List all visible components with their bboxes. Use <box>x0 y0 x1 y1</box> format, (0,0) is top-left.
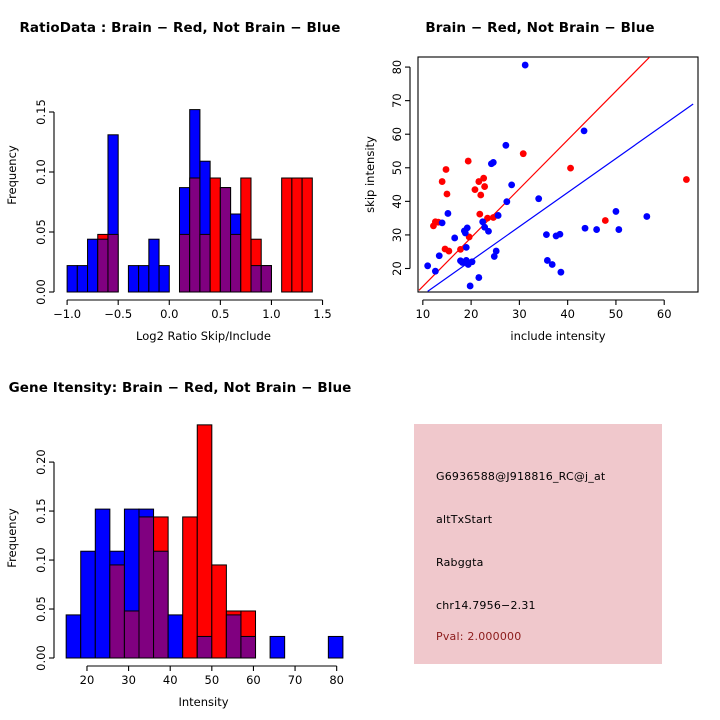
gene-hist-bin <box>139 509 154 658</box>
scatter-point <box>469 258 476 265</box>
gene-bar-blue <box>328 636 343 658</box>
gene-hist-bin <box>328 636 343 658</box>
info-line-probe-id: G6936588@J918816_RC@j_at <box>436 470 605 483</box>
scatter-xlabel: include intensity <box>510 329 605 343</box>
gene-y-ticklabel: 0.15 <box>34 498 48 524</box>
gene-bar-blue <box>66 615 81 658</box>
scatter-point <box>535 195 542 202</box>
ratio-hist-bin <box>108 135 118 292</box>
ratio-y-ticklabel: 0.15 <box>34 99 48 125</box>
scatter-point <box>443 166 450 173</box>
ratio-x-ticklabel: 1.0 <box>262 307 280 321</box>
gene-hist-bin <box>95 509 110 658</box>
probe-info-panel: G6936588@J918816_RC@j_at altTxStart Rabg… <box>414 424 662 664</box>
gene-hist-bin <box>241 611 256 658</box>
gene-y-ticklabel: 0.00 <box>34 645 48 671</box>
gene-hist-bin <box>66 615 81 658</box>
ratio-bar-overlap-purple <box>261 266 271 292</box>
gene-hist-bin <box>168 615 183 658</box>
gene-y-ticklabel: 0.20 <box>34 449 48 475</box>
gene-x-ticklabel: 70 <box>288 673 303 687</box>
scatter-y-ticklabel: 70 <box>390 93 404 108</box>
ratio-x-ticklabel: 1.5 <box>313 307 331 321</box>
scatter-point <box>508 182 515 189</box>
gene-hist-bin <box>81 551 96 658</box>
ratio-bar-blue <box>77 266 87 292</box>
scatter-point <box>522 62 529 69</box>
scatter-point <box>436 252 443 259</box>
gene-ylabel: Frequency <box>5 508 19 568</box>
ratio-hist-bin <box>179 188 189 292</box>
ratio-ylabel: Frequency <box>5 145 19 205</box>
gene-hist-bin <box>154 517 169 658</box>
info-line-event-type: altTxStart <box>436 513 492 526</box>
ratio-bar-overlap-purple <box>108 234 118 292</box>
gene-bar-overlap-purple <box>124 611 139 658</box>
scatter-point <box>424 262 431 269</box>
ratio-hist-bin <box>67 266 77 292</box>
ratio-hist-bin <box>88 239 98 292</box>
ratio-x-ticklabel: −0.5 <box>104 307 132 321</box>
scatter-point <box>472 186 479 193</box>
scatter-x-ticklabel: 60 <box>657 307 672 321</box>
gene-x-ticklabel: 30 <box>121 673 136 687</box>
scatter-y-ticklabel: 80 <box>390 60 404 75</box>
scatter-y-ticklabel: 60 <box>390 127 404 142</box>
gene-x-ticklabel: 50 <box>205 673 220 687</box>
ratio-bar-overlap-purple <box>200 234 210 292</box>
scatter-x-ticklabel: 50 <box>609 307 624 321</box>
scatter-x-ticklabel: 20 <box>464 307 479 321</box>
scatter-point <box>439 178 446 185</box>
scatter-y-ticklabel: 50 <box>390 160 404 175</box>
gene-hist-bin <box>270 636 285 658</box>
ratio-bar-red <box>241 178 251 292</box>
panel-ratiodata-title: RatioData : Brain − Red, Not Brain − Blu… <box>0 20 360 36</box>
scatter-point <box>613 208 620 215</box>
ratio-y-ticklabel: 0.10 <box>34 159 48 185</box>
gene-hist-bin <box>197 425 212 658</box>
scatter-point <box>457 246 464 253</box>
scatter-point <box>593 226 600 233</box>
ratio-bar-blue <box>88 239 98 292</box>
gene-hist-bin <box>212 565 227 658</box>
gene-x-ticklabel: 20 <box>80 673 95 687</box>
scatter-point <box>615 226 622 233</box>
scatter-point <box>480 175 487 182</box>
scatter-red-reference-line <box>419 57 650 290</box>
ratio-hist-bin <box>241 178 251 292</box>
ratio-bar-blue <box>139 266 149 292</box>
ratio-hist-bin <box>231 214 241 292</box>
ratio-bar-overlap-purple <box>98 239 108 292</box>
scatter-x-ticklabel: 10 <box>416 307 431 321</box>
gene-y-ticklabel: 0.10 <box>34 547 48 573</box>
ratio-hist-bin <box>128 266 138 292</box>
ratiodata-plot-area: −1.0−0.50.00.51.01.50.000.050.100.15Log2… <box>0 0 360 360</box>
scatter-point <box>465 158 472 165</box>
ratio-hist-bin <box>190 110 200 292</box>
scatter-y-ticklabel: 20 <box>390 261 404 276</box>
scatter-point <box>481 183 488 190</box>
scatter-point <box>485 228 492 235</box>
scatter-y-ticklabel: 40 <box>390 194 404 209</box>
ratio-bar-overlap-purple <box>220 188 230 292</box>
scatter-point <box>543 231 550 238</box>
scatter-y-ticklabel: 30 <box>390 228 404 243</box>
scatter-x-ticklabel: 30 <box>512 307 527 321</box>
ratio-bar-red <box>302 178 312 292</box>
ratio-hist-bin <box>200 161 210 292</box>
ratio-bar-overlap-purple <box>190 178 200 292</box>
gene-bar-overlap-purple <box>226 615 241 658</box>
scatter-point <box>567 165 574 172</box>
ratio-bar-red <box>292 178 302 292</box>
ratio-hist-bin <box>139 266 149 292</box>
scatter-point <box>502 142 509 149</box>
gene-bar-overlap-purple <box>110 565 125 658</box>
scatter-point <box>475 274 482 281</box>
gene-bar-red <box>197 425 212 658</box>
figure-canvas: RatioData : Brain − Red, Not Brain − Blu… <box>0 0 720 720</box>
scatter-point <box>467 283 474 290</box>
gene-plot-area: 203040506070800.000.050.100.150.20Intens… <box>0 360 360 720</box>
ratio-bar-red <box>282 178 292 292</box>
gene-bar-red <box>212 565 227 658</box>
gene-xlabel: Intensity <box>178 695 228 709</box>
scatter-point <box>444 191 451 198</box>
scatter-point <box>432 268 439 275</box>
gene-hist-bin <box>124 509 139 658</box>
ratio-hist-bin <box>220 188 230 292</box>
gene-bar-blue <box>95 509 110 658</box>
scatter-x-ticklabel: 40 <box>560 307 575 321</box>
ratio-x-ticklabel: 0.5 <box>211 307 229 321</box>
info-line-pval: Pval: 2.000000 <box>436 630 521 643</box>
ratio-bar-blue <box>67 266 77 292</box>
ratio-xlabel: Log2 Ratio Skip/Include <box>136 329 271 343</box>
scatter-inner <box>419 57 693 291</box>
gene-bar-blue <box>270 636 285 658</box>
ratio-bar-overlap-purple <box>179 234 189 292</box>
scatter-point <box>493 248 500 255</box>
ratio-hist-bin <box>210 178 220 292</box>
gene-bar-red <box>183 517 198 658</box>
ratio-y-ticklabel: 0.00 <box>34 279 48 305</box>
ratio-bar-overlap-purple <box>251 266 261 292</box>
ratio-bar-blue <box>149 239 159 292</box>
panel-gene-intensity-histogram: Gene Itensity: Brain − Red, Not Brain − … <box>0 360 360 720</box>
gene-x-ticklabel: 40 <box>163 673 178 687</box>
scatter-ylabel: skip intensity <box>363 136 377 213</box>
ratio-hist-bin <box>77 266 87 292</box>
ratio-hist-bin <box>98 234 108 292</box>
ratio-hist-bin <box>282 178 292 292</box>
panel-gene-title: Gene Itensity: Brain − Red, Not Brain − … <box>0 380 360 396</box>
ratio-bar-blue <box>159 266 169 292</box>
ratio-x-ticklabel: −1.0 <box>53 307 81 321</box>
scatter-point <box>476 211 483 218</box>
panel-ratiodata-histogram: RatioData : Brain − Red, Not Brain − Blu… <box>0 0 360 360</box>
ratio-x-ticklabel: 0.0 <box>160 307 178 321</box>
gene-x-ticklabel: 80 <box>329 673 344 687</box>
scatter-point <box>445 248 452 255</box>
scatter-point <box>557 269 564 276</box>
ratio-hist-bin <box>149 239 159 292</box>
scatter-point <box>520 150 527 157</box>
gene-x-ticklabel: 60 <box>246 673 261 687</box>
scatter-point <box>503 198 510 205</box>
ratio-hist-bin <box>159 266 169 292</box>
gene-bar-blue <box>168 615 183 658</box>
scatter-point <box>445 210 452 217</box>
gene-hist-bin <box>183 517 198 658</box>
scatter-point <box>683 176 690 183</box>
ratio-hist-bin <box>261 266 271 292</box>
panel-intensity-scatter: Brain − Red, Not Brain − Blue 1020304050… <box>360 0 720 360</box>
scatter-point <box>582 225 589 232</box>
scatter-point <box>549 261 556 268</box>
gene-bar-overlap-purple <box>154 551 169 658</box>
gene-bar-blue <box>81 551 96 658</box>
ratio-hist-bin <box>292 178 302 292</box>
scatter-point <box>602 217 609 224</box>
gene-y-ticklabel: 0.05 <box>34 596 48 622</box>
scatter-point <box>464 224 471 231</box>
ratio-y-ticklabel: 0.05 <box>34 219 48 245</box>
scatter-point <box>643 213 650 220</box>
gene-bar-overlap-purple <box>241 636 256 658</box>
ratio-bar-red <box>210 178 220 292</box>
ratio-hist-bin <box>251 239 261 292</box>
scatter-point <box>495 212 502 219</box>
ratio-bar-blue <box>128 266 138 292</box>
gene-bar-overlap-purple <box>197 636 212 658</box>
ratio-hist-bin <box>302 178 312 292</box>
scatter-point <box>477 192 484 199</box>
scatter-point <box>557 231 564 238</box>
gene-bar-overlap-purple <box>139 517 154 658</box>
panel-scatter-title: Brain − Red, Not Brain − Blue <box>360 20 720 36</box>
scatter-point <box>439 219 446 226</box>
scatter-point <box>490 159 497 166</box>
scatter-plot-area: 10203040506020304050607080include intens… <box>360 0 720 360</box>
scatter-point <box>451 235 458 242</box>
gene-hist-bin <box>110 551 125 658</box>
info-line-locus: chr14.7956−2.31 <box>436 599 536 612</box>
scatter-plot-box <box>418 57 698 292</box>
scatter-point <box>463 244 470 251</box>
ratio-bar-overlap-purple <box>231 234 241 292</box>
info-line-gene-symbol: Rabggta <box>436 556 484 569</box>
gene-hist-bin <box>226 611 241 658</box>
scatter-point <box>581 127 588 134</box>
